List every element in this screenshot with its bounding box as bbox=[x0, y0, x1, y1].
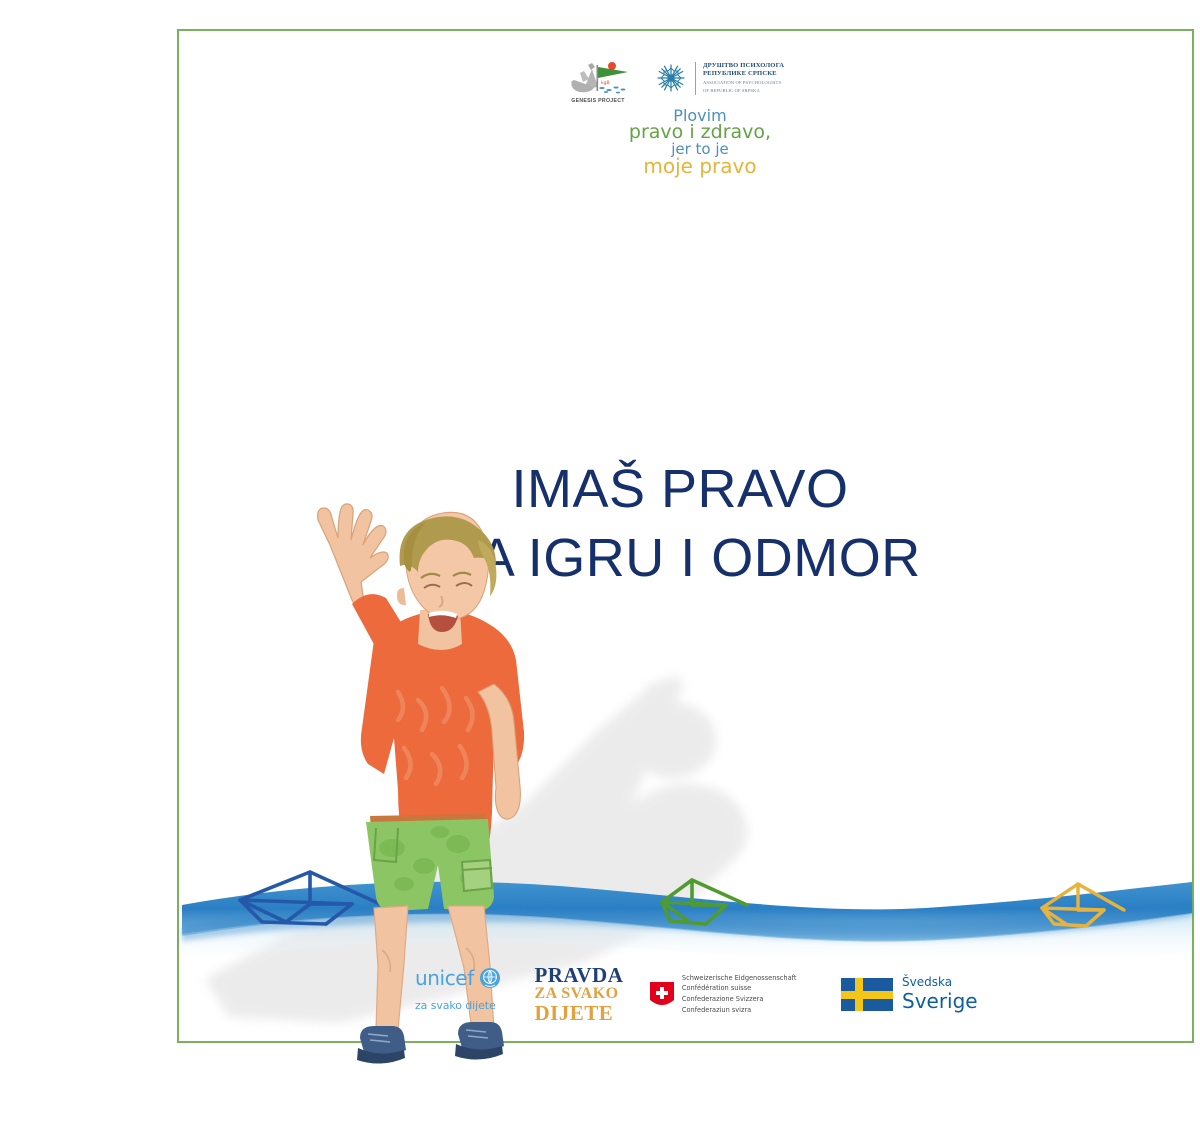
pravda-line-1: PRAVDA bbox=[534, 966, 637, 986]
unicef-wordmark: unicef bbox=[415, 966, 474, 990]
pravda-line-3: DIJETE bbox=[534, 1003, 637, 1024]
swiss-line-1: Schweizerische Eidgenossenschaft bbox=[682, 973, 797, 984]
swiss-confederation-logo: Schweizerische Eidgenossenschaft Confédé… bbox=[638, 966, 827, 1022]
sweden-logo-text: Švedska Sverige bbox=[902, 976, 978, 1012]
swiss-cross-icon bbox=[650, 982, 674, 1006]
pravda-za-svako-dijete-logo: PRAVDA ZA SVAKO DIJETE bbox=[526, 966, 637, 1022]
swiss-line-4: Confederaziun svizra bbox=[682, 1005, 797, 1016]
sweden-line-1: Švedska bbox=[902, 976, 978, 990]
partner-logos-row: unicef za svako dijete PRAVDA ZA SVAKO D… bbox=[415, 963, 975, 1025]
sweden-line-2: Sverige bbox=[902, 990, 978, 1012]
swiss-line-3: Confederazione Svizzera bbox=[682, 994, 797, 1005]
unicef-logo: unicef za svako dijete bbox=[415, 966, 526, 1022]
poster-canvas: kgB GENESIS PROJECT bbox=[0, 0, 1200, 1143]
unicef-tagline: za svako dijete bbox=[415, 999, 526, 1012]
swedish-flag-icon bbox=[841, 978, 893, 1011]
swiss-line-2: Confédération suisse bbox=[682, 983, 797, 994]
sweden-sverige-logo: Švedska Sverige bbox=[827, 966, 975, 1022]
unicef-globe-icon bbox=[479, 967, 501, 989]
swiss-confederation-text: Schweizerische Eidgenossenschaft Confédé… bbox=[682, 973, 797, 1016]
